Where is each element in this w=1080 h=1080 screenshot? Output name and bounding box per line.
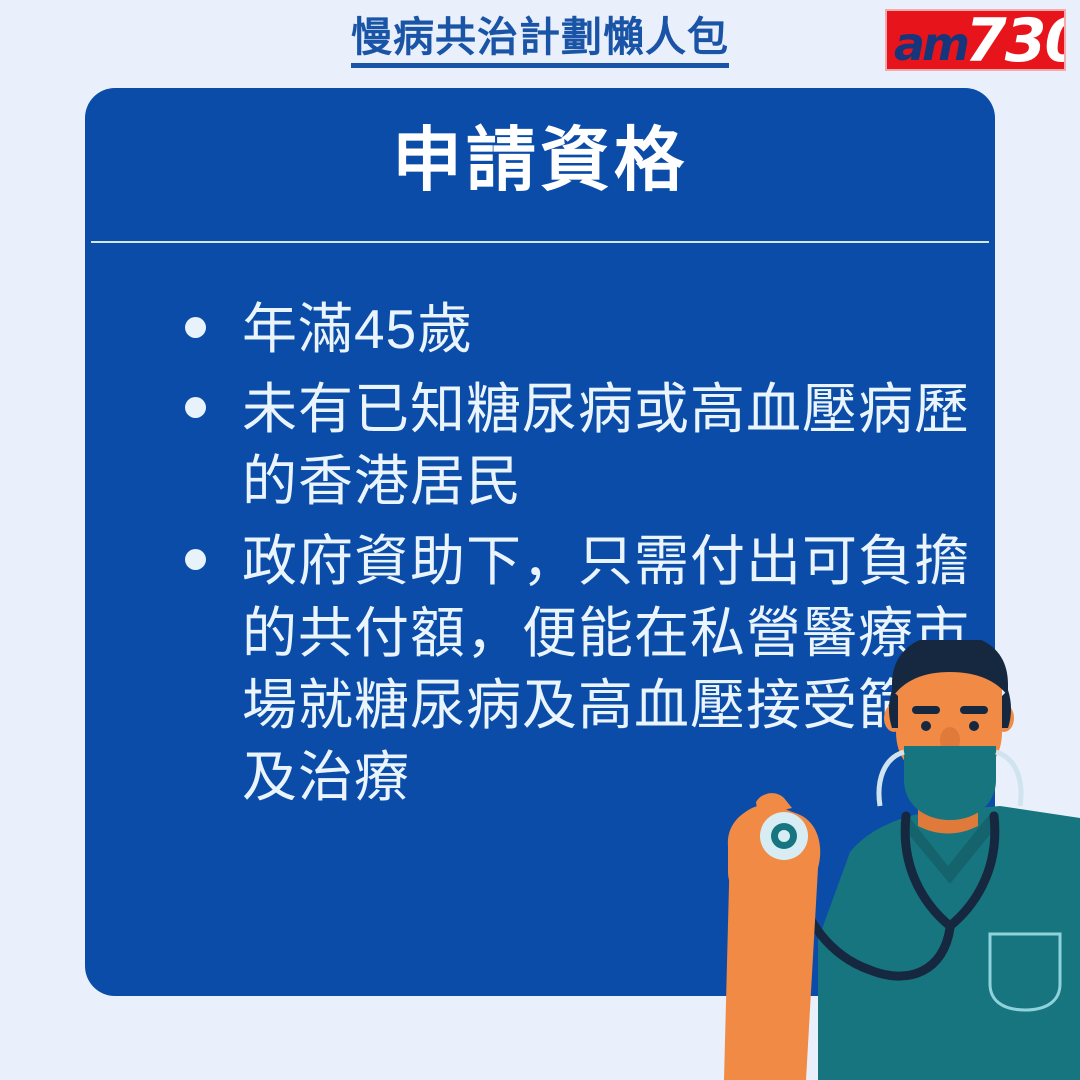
eye-right [969,721,979,731]
card-divider [91,241,989,243]
am730-logo-number: 730 [965,13,1066,69]
face-mask [904,746,996,820]
am730-logo: am730 [885,9,1066,71]
am730-logo-prefix: am [887,21,967,69]
mask-strap-left [879,752,904,806]
header-bar: 慢病共治計劃懶人包 am730 [0,0,1080,84]
list-item-label: 未有已知糖尿病或高血壓病歷的香港居民 [242,373,995,517]
stethoscope-diaphragm-inner [778,830,790,842]
eye-left [921,721,931,731]
mask-strap-right [996,752,1021,806]
eyebrow-left [912,706,940,714]
eyebrow-right [960,706,988,714]
bullet-dot-icon [185,317,206,338]
doctor-illustration [700,640,1080,1080]
bullet-dot-icon [185,397,206,418]
bullet-dot-icon [185,549,206,570]
am730-logo-inner: am730 [887,11,1064,69]
list-item: 未有已知糖尿病或高血壓病歷的香港居民 [185,373,995,517]
list-item-label: 年滿45歲 [242,293,995,365]
infographic-canvas: 慢病共治計劃懶人包 am730 申請資格 年滿45歲 未有已知糖尿病或高血壓病歷… [0,0,1080,1080]
list-item: 年滿45歲 [185,293,995,365]
card-heading: 申請資格 [85,114,995,206]
page-title-text: 慢病共治計劃懶人包 [351,14,729,68]
